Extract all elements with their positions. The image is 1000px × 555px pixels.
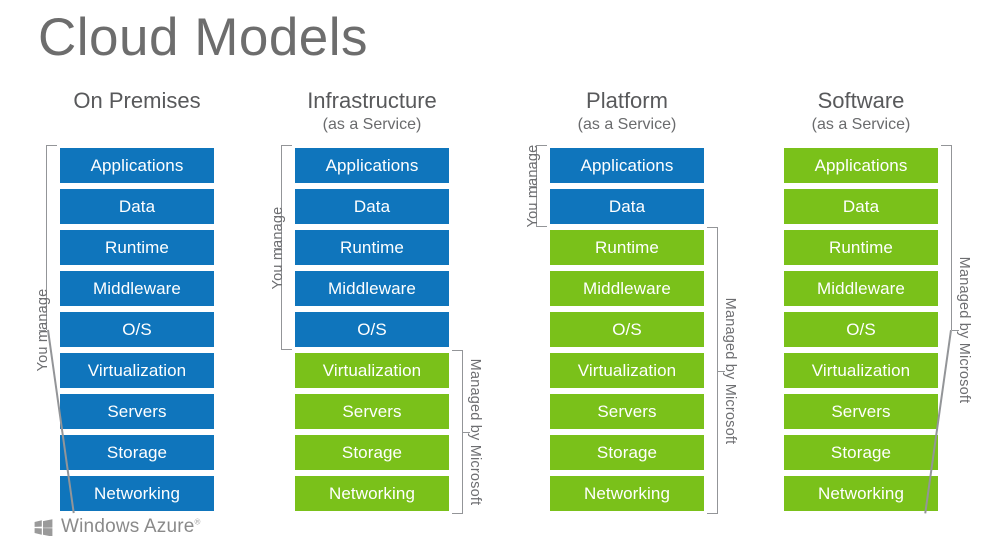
- layer-bar-servers[interactable]: Servers: [295, 394, 449, 429]
- windows-flag-icon: [34, 519, 53, 536]
- layer-bar-servers[interactable]: Servers: [60, 394, 214, 429]
- column-on-premises: On PremisesApplicationsDataRuntimeMiddle…: [60, 88, 214, 114]
- layer-bar-data[interactable]: Data: [60, 189, 214, 224]
- layer-bar-o-s[interactable]: O/S: [550, 312, 704, 347]
- column-heading-platform: Platform(as a Service): [550, 88, 704, 135]
- column-heading-main: Platform: [550, 88, 704, 114]
- layer-stack-platform: ApplicationsDataRuntimeMiddlewareO/SVirt…: [550, 148, 704, 517]
- layer-bar-runtime[interactable]: Runtime: [784, 230, 938, 265]
- azure-logo-name: Windows Azure: [61, 516, 195, 537]
- layer-bar-data[interactable]: Data: [295, 189, 449, 224]
- layer-bar-servers[interactable]: Servers: [550, 394, 704, 429]
- layer-bar-data[interactable]: Data: [784, 189, 938, 224]
- managed-by-microsoft-label-software: Managed by Microsoft: [956, 256, 972, 403]
- layer-bar-middleware[interactable]: Middleware: [784, 271, 938, 306]
- layer-bar-applications[interactable]: Applications: [550, 148, 704, 183]
- layer-bar-storage[interactable]: Storage: [550, 435, 704, 470]
- managed-by-microsoft-bracket-infrastructure: [452, 350, 463, 514]
- layer-bar-middleware[interactable]: Middleware: [60, 271, 214, 306]
- page-title: Cloud Models: [38, 8, 368, 69]
- windows-azure-logo: Windows Azure®: [34, 516, 201, 538]
- azure-logo-text: Windows Azure®: [61, 516, 201, 538]
- column-infrastructure: Infrastructure(as a Service)Applications…: [295, 88, 449, 135]
- column-software: Software(as a Service)ApplicationsDataRu…: [784, 88, 938, 135]
- column-heading-on-premises: On Premises: [60, 88, 214, 114]
- layer-bar-networking[interactable]: Networking: [550, 476, 704, 511]
- column-heading-sub: (as a Service): [784, 115, 938, 135]
- layer-bar-virtualization[interactable]: Virtualization: [784, 353, 938, 388]
- layer-bar-data[interactable]: Data: [550, 189, 704, 224]
- column-heading-sub: (as a Service): [295, 115, 449, 135]
- layer-bar-networking[interactable]: Networking: [60, 476, 214, 511]
- column-platform: Platform(as a Service)ApplicationsDataRu…: [550, 88, 704, 135]
- layer-bar-o-s[interactable]: O/S: [295, 312, 449, 347]
- layer-bar-runtime[interactable]: Runtime: [550, 230, 704, 265]
- layer-bar-applications[interactable]: Applications: [784, 148, 938, 183]
- column-heading-software: Software(as a Service): [784, 88, 938, 135]
- layer-bar-storage[interactable]: Storage: [60, 435, 214, 470]
- layer-bar-storage[interactable]: Storage: [784, 435, 938, 470]
- column-heading-main: Software: [784, 88, 938, 114]
- layer-bar-runtime[interactable]: Runtime: [295, 230, 449, 265]
- you-manage-label-platform: You manage: [525, 145, 541, 228]
- layer-bar-networking[interactable]: Networking: [784, 476, 938, 511]
- managed-by-microsoft-bracket-platform: [707, 227, 718, 514]
- managed-by-microsoft-bracket-software: [941, 145, 952, 330]
- column-heading-sub: (as a Service): [550, 115, 704, 135]
- layer-bar-runtime[interactable]: Runtime: [60, 230, 214, 265]
- managed-by-microsoft-label-platform: Managed by Microsoft: [722, 297, 738, 444]
- azure-trademark: ®: [195, 518, 201, 527]
- layer-stack-infrastructure: ApplicationsDataRuntimeMiddlewareO/SVirt…: [295, 148, 449, 517]
- column-heading-main: On Premises: [60, 88, 214, 114]
- layer-bar-middleware[interactable]: Middleware: [295, 271, 449, 306]
- layer-bar-applications[interactable]: Applications: [295, 148, 449, 183]
- layer-stack-on-premises: ApplicationsDataRuntimeMiddlewareO/SVirt…: [60, 148, 214, 517]
- layer-bar-o-s[interactable]: O/S: [784, 312, 938, 347]
- layer-bar-virtualization[interactable]: Virtualization: [60, 353, 214, 388]
- layer-bar-servers[interactable]: Servers: [784, 394, 938, 429]
- layer-bar-virtualization[interactable]: Virtualization: [295, 353, 449, 388]
- layer-bar-networking[interactable]: Networking: [295, 476, 449, 511]
- layer-bar-storage[interactable]: Storage: [295, 435, 449, 470]
- layer-bar-applications[interactable]: Applications: [60, 148, 214, 183]
- layer-stack-software: ApplicationsDataRuntimeMiddlewareO/SVirt…: [784, 148, 938, 517]
- you-manage-label-infrastructure: You manage: [270, 206, 286, 289]
- managed-by-microsoft-label-infrastructure: Managed by Microsoft: [467, 359, 483, 506]
- layer-bar-virtualization[interactable]: Virtualization: [550, 353, 704, 388]
- layer-bar-o-s[interactable]: O/S: [60, 312, 214, 347]
- layer-bar-middleware[interactable]: Middleware: [550, 271, 704, 306]
- column-heading-infrastructure: Infrastructure(as a Service): [295, 88, 449, 135]
- column-heading-main: Infrastructure: [295, 88, 449, 114]
